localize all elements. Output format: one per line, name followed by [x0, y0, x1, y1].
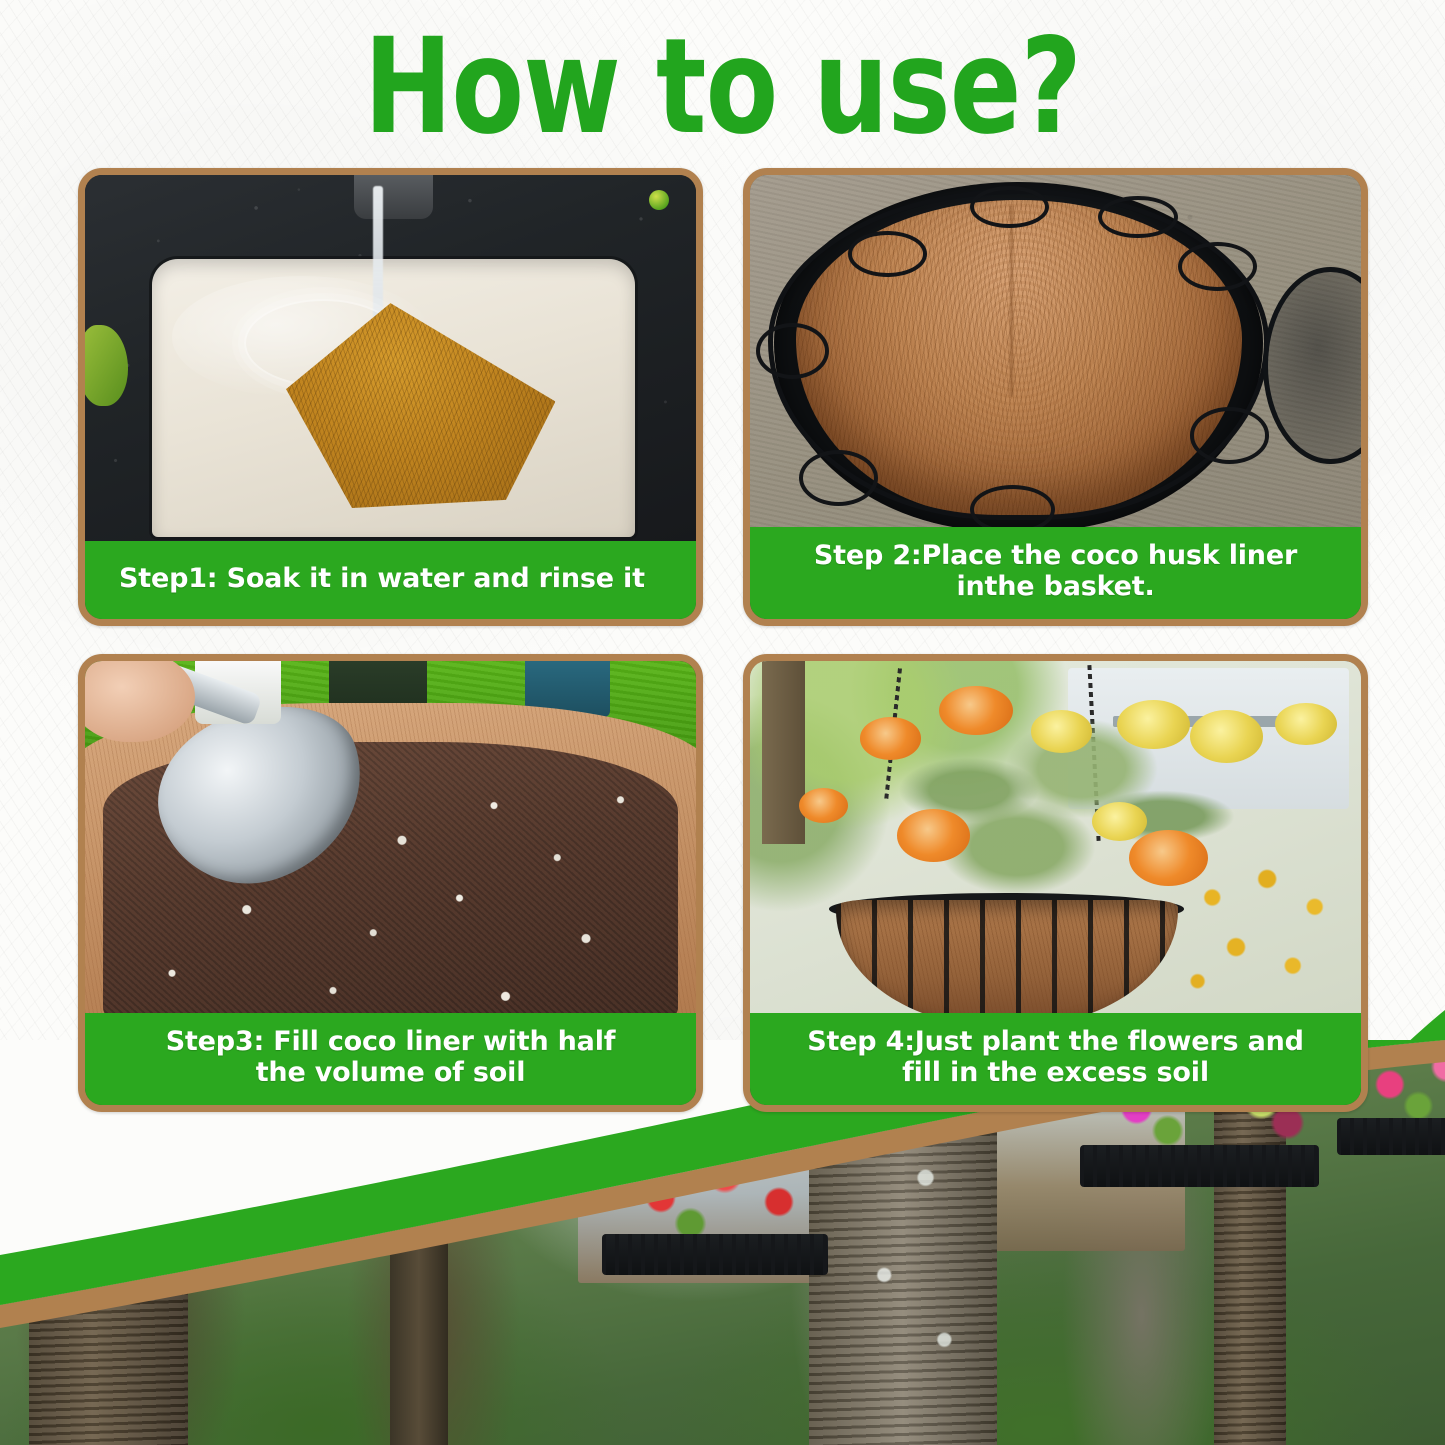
basket-wire-loop	[799, 450, 878, 506]
step-4-caption-line-1: Step 4:Just plant the flowers and	[807, 1027, 1304, 1058]
basket-wire-loop	[970, 186, 1049, 228]
flowers	[592, 1149, 838, 1246]
step-card-4: Step 4:Just plant the flowers and fill i…	[743, 654, 1368, 1112]
basket-wire-loop	[756, 323, 829, 379]
page-title: How to use?	[145, 18, 1301, 158]
yellow-flower	[1092, 802, 1147, 841]
faucet-icon	[354, 175, 433, 219]
sink-sticker	[649, 190, 669, 210]
step-4-caption: Step 4:Just plant the flowers and fill i…	[750, 1013, 1361, 1105]
step-4-caption-line-2: fill in the excess soil	[902, 1058, 1209, 1089]
orange-flower	[799, 788, 848, 823]
step-3-caption-line-2: the volume of soil	[256, 1058, 526, 1089]
step-4-photo	[750, 661, 1361, 1013]
step-3-caption-line-1: Step3: Fill coco liner with half	[166, 1027, 616, 1058]
step-1-caption: Step1: Soak it in water and rinse it	[85, 541, 696, 619]
tree-trunk	[762, 661, 805, 844]
step-2-photo	[750, 175, 1361, 527]
step-2-caption-line-2: inthe basket.	[956, 572, 1154, 603]
yellow-flower	[1117, 700, 1190, 749]
basket-wire-loop	[1098, 196, 1177, 238]
hanging-basket	[592, 1149, 838, 1352]
basket-wire-loop	[848, 231, 927, 277]
step-3-photo	[85, 661, 696, 1013]
step-3-caption: Step3: Fill coco liner with half the vol…	[85, 1013, 696, 1105]
step-2-caption: Step 2:Place the coco husk liner inthe b…	[750, 527, 1361, 619]
step-card-2: Step 2:Place the coco husk liner inthe b…	[743, 168, 1368, 626]
basket-wire-loop	[1190, 407, 1269, 463]
yellow-flower	[1031, 710, 1092, 752]
orange-flower	[860, 717, 921, 759]
infographic-page: How to use? Step1: Soak it in water and …	[0, 0, 1445, 1445]
orange-flower	[897, 809, 970, 862]
steps-grid: Step1: Soak it in water and rinse it	[78, 168, 1368, 1112]
step-card-1: Step1: Soak it in water and rinse it	[78, 168, 703, 626]
step-card-3: Step3: Fill coco liner with half the vol…	[78, 654, 703, 1112]
yellow-flower	[1275, 703, 1336, 745]
step-1-caption-line-1: Step1: Soak it in water and rinse it	[119, 564, 645, 595]
yellow-daisies	[1172, 851, 1355, 1006]
step-2-caption-line-1: Step 2:Place the coco husk liner	[814, 541, 1297, 572]
yellow-flower	[1190, 710, 1263, 763]
step-1-photo	[85, 175, 696, 541]
orange-flower	[939, 686, 1012, 735]
basket-wire-loop	[1178, 242, 1257, 291]
